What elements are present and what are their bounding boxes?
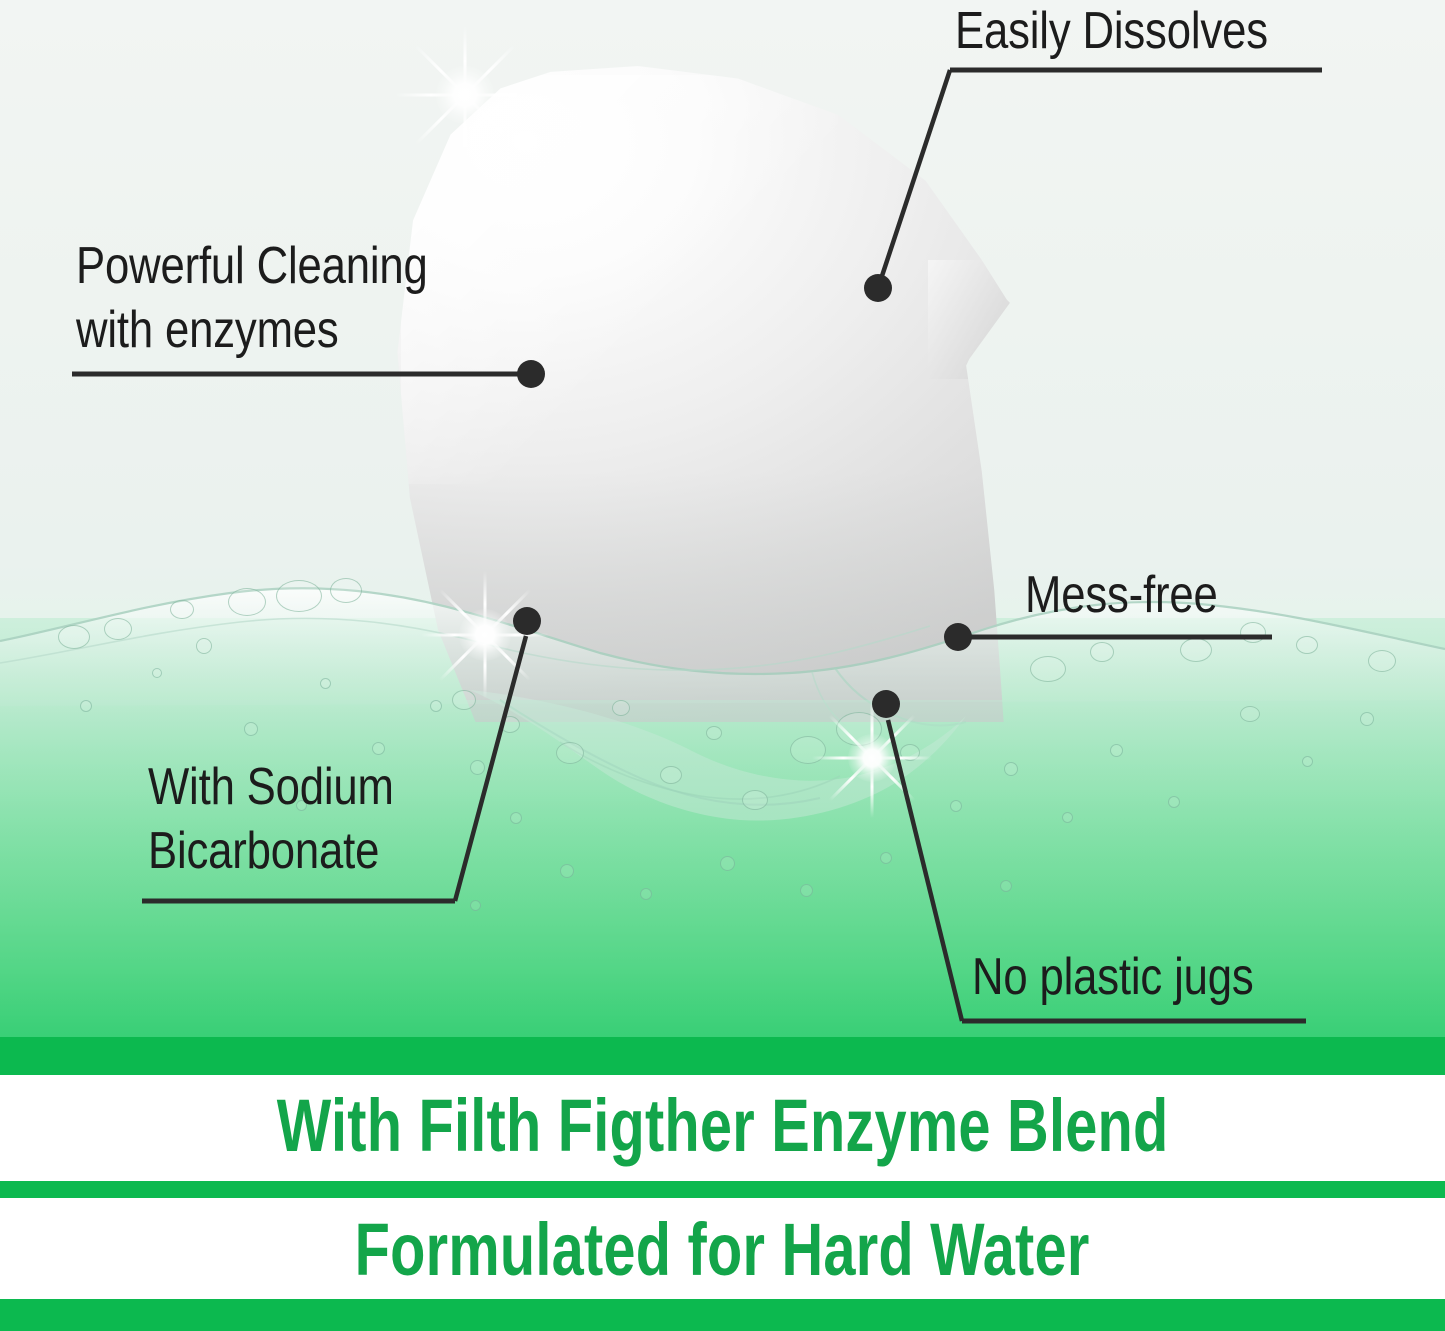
tablet-bottom-shadow: [388, 471, 1013, 722]
callout-label-powerful-cleaning: Powerful Cleaning with enzymes: [76, 234, 428, 362]
cleaning-tablet: [388, 62, 1013, 722]
banner-headline-2: Formulated for Hard Water: [0, 1207, 1445, 1293]
product-scene: Easily Dissolves Powerful Cleaning with …: [0, 0, 1445, 1075]
banner-headline-1: With Filth Figther Enzyme Blend: [0, 1083, 1445, 1169]
green-bar-top: [0, 1037, 1445, 1075]
callout-label-mess-free: Mess-free: [1025, 566, 1218, 624]
banner-headline-2-text: Formulated for Hard Water: [355, 1207, 1090, 1293]
bottom-banner: With Filth Figther Enzyme Blend Formulat…: [0, 1075, 1445, 1331]
leader-no-plastic-jugs: [888, 720, 962, 1021]
callout-label-no-plastic-jugs: No plastic jugs: [972, 948, 1254, 1006]
tablet-highlight: [401, 75, 839, 484]
tablet-bevel-edge: [928, 260, 1016, 379]
banner-headline-1-text: With Filth Figther Enzyme Blend: [277, 1083, 1169, 1169]
callout-label-easily-dissolves: Easily Dissolves: [955, 2, 1268, 60]
green-bar-bottom: [0, 1299, 1445, 1331]
infographic-canvas: Easily Dissolves Powerful Cleaning with …: [0, 0, 1445, 1331]
callout-label-sodium-bicarbonate: With Sodium Bicarbonate: [148, 755, 394, 883]
green-bar-middle: [0, 1181, 1445, 1198]
